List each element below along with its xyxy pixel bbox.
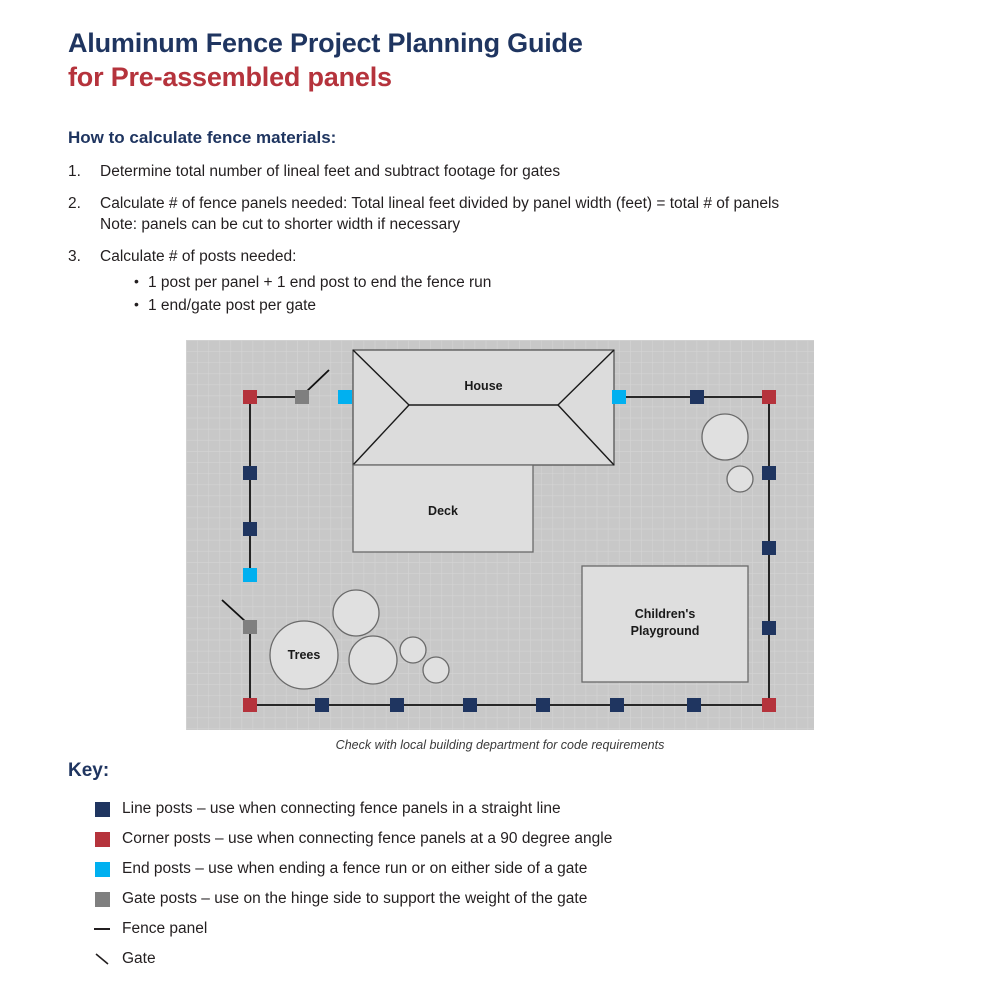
corner-post-marker (762, 390, 776, 404)
page-title: Aluminum Fence Project Planning Guide fo… (68, 28, 583, 92)
howto-section: How to calculate fence materials: 1.Dete… (68, 128, 948, 328)
title-line-1: Aluminum Fence Project Planning Guide (68, 28, 583, 58)
line-post-marker (315, 698, 329, 712)
legend-item-label: End posts – use when ending a fence run … (122, 859, 587, 879)
howto-step: 3.Calculate # of posts needed:1 post per… (68, 246, 948, 317)
house-outline (353, 350, 614, 465)
line-post-marker (243, 466, 257, 480)
legend-item: End posts – use when ending a fence run … (68, 854, 948, 884)
line-post-marker (243, 522, 257, 536)
step-bullets: 1 post per panel + 1 end post to end the… (100, 271, 948, 317)
step-text: Calculate # of posts needed: (100, 248, 296, 265)
step-number: 3. (68, 246, 92, 267)
playground-label-2: Playground (631, 624, 700, 638)
legend-item-label: Fence panel (122, 919, 207, 939)
step-text: Calculate # of fence panels needed: Tota… (100, 195, 779, 212)
trees-label: Trees (288, 648, 321, 662)
tree-circle (333, 590, 379, 636)
fence-panel-icon (94, 928, 110, 930)
legend-heading: Key: (68, 760, 948, 782)
line-post-marker (463, 698, 477, 712)
end-post-marker (338, 390, 352, 404)
tree-circle (400, 637, 426, 663)
line-post-marker (610, 698, 624, 712)
howto-heading: How to calculate fence materials: (68, 128, 948, 148)
diagram-canvas: HouseDeckChildren'sPlaygroundTrees (186, 340, 814, 730)
line-post-marker (762, 621, 776, 635)
line-post-marker (690, 390, 704, 404)
legend-item: Corner posts – use when connecting fence… (68, 824, 948, 854)
line-post-marker (536, 698, 550, 712)
legend-swatch (82, 802, 122, 817)
legend-section: Key: Line posts – use when connecting fe… (68, 760, 948, 974)
line-post-marker (762, 541, 776, 555)
legend-swatch (82, 862, 122, 877)
playground-label: Children's (635, 607, 696, 621)
howto-step: 1.Determine total number of lineal feet … (68, 161, 948, 182)
legend-swatch (82, 951, 122, 967)
corner-post-marker (243, 698, 257, 712)
post-swatch-icon (95, 892, 110, 907)
step-text: Determine total number of lineal feet an… (100, 163, 560, 180)
diagram-caption: Check with local building department for… (186, 738, 814, 752)
tree-circle (349, 636, 397, 684)
title-line-2: for Pre-assembled panels (68, 62, 583, 92)
corner-post-marker (243, 390, 257, 404)
tree-circle (423, 657, 449, 683)
legend-swatch (82, 928, 122, 930)
legend-list: Line posts – use when connecting fence p… (68, 794, 948, 974)
post-swatch-icon (95, 862, 110, 877)
legend-item: Fence panel (68, 914, 948, 944)
line-post-marker (687, 698, 701, 712)
tree-circle (702, 414, 748, 460)
legend-item-label: Corner posts – use when connecting fence… (122, 829, 612, 849)
line-post-marker (762, 466, 776, 480)
gate-icon (94, 951, 110, 967)
legend-item-label: Line posts – use when connecting fence p… (122, 799, 561, 819)
post-swatch-icon (95, 832, 110, 847)
step-bullet-item: 1 end/gate post per gate (134, 294, 948, 317)
gate-post-marker (295, 390, 309, 404)
step-number: 2. (68, 193, 92, 214)
legend-item-label: Gate (122, 949, 156, 969)
yard-diagram: HouseDeckChildren'sPlaygroundTrees (186, 340, 814, 730)
legend-item: Line posts – use when connecting fence p… (68, 794, 948, 824)
tree-circle (727, 466, 753, 492)
legend-swatch (82, 832, 122, 847)
end-post-marker (243, 568, 257, 582)
gate-post-marker (243, 620, 257, 634)
step-number: 1. (68, 161, 92, 182)
legend-item: Gate posts – use on the hinge side to su… (68, 884, 948, 914)
step-bullet-item: 1 post per panel + 1 end post to end the… (134, 271, 948, 294)
legend-item: Gate (68, 944, 948, 974)
legend-item-label: Gate posts – use on the hinge side to su… (122, 889, 587, 909)
deck-label: Deck (428, 504, 458, 518)
end-post-marker (612, 390, 626, 404)
corner-post-marker (762, 698, 776, 712)
legend-swatch (82, 892, 122, 907)
step-subtext: Note: panels can be cut to shorter width… (100, 214, 948, 235)
page-root: Aluminum Fence Project Planning Guide fo… (0, 0, 1000, 1000)
howto-step: 2.Calculate # of fence panels needed: To… (68, 193, 948, 235)
line-post-marker (390, 698, 404, 712)
post-swatch-icon (95, 802, 110, 817)
house-label: House (464, 379, 502, 393)
howto-steps: 1.Determine total number of lineal feet … (68, 161, 948, 317)
